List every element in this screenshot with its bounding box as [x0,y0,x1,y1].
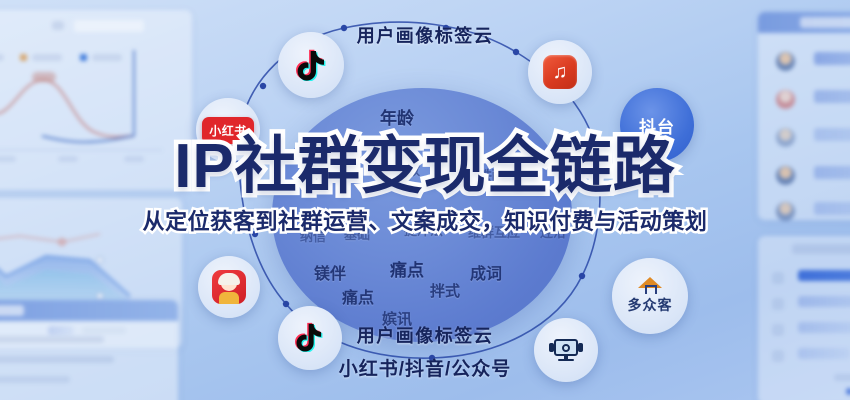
tag-cloud-item: 痛点 [390,256,424,281]
title-block: IP社群变现全链路 从定位获客到社群运营、文案成交，知识付费与活动策划 [0,136,850,233]
tag-cloud-item: 年龄 [380,104,414,129]
page-title: IP社群变现全链路 [0,136,850,198]
tag-cloud-item: 镁伴 [314,260,346,284]
tag-cloud-item: 痛点 [342,284,374,308]
node-mascot[interactable] [198,256,260,318]
mascot-icon [212,270,246,304]
tag-cloud-item: 拌式 [430,280,460,301]
heading-channels: 小红书/抖音/公众号 [0,354,850,381]
tiktok-icon [296,49,326,81]
heading-top: 用户画像标签云 [0,22,850,48]
poster-canvas: 年龄年龄需求适用模数铁酬基础提洋法维群互应纳信连洽镁伴痛点成词痛点拌式嫔讯 ♫ … [0,0,850,400]
node-music-app[interactable]: ♫ [528,40,592,104]
tag-cloud-item: 成词 [470,260,502,284]
heading-bottom: 用户画像标签云 [0,322,850,348]
music-app-icon: ♫ [543,55,577,89]
house-icon [638,277,662,294]
node-duozhongke-label: 多众客 [628,295,673,315]
page-subtitle: 从定位获客到社群运营、文案成交，知识付费与活动策划 [0,211,850,233]
